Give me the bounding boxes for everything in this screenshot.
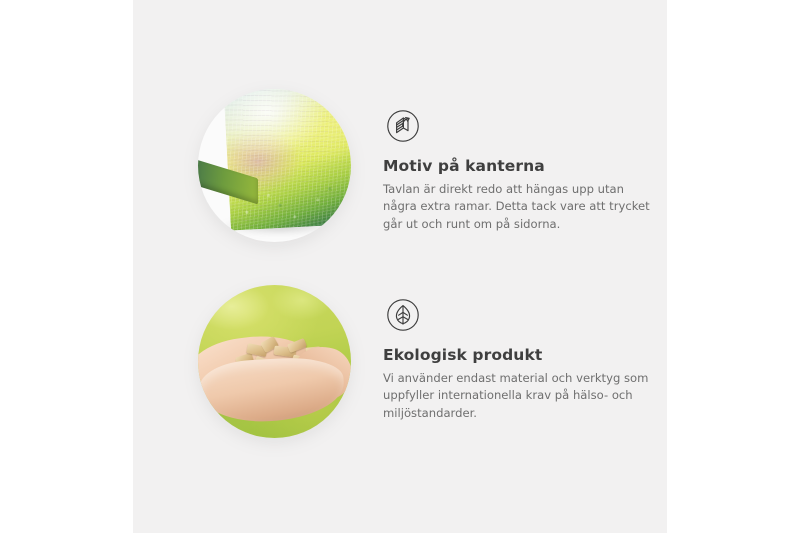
content-panel (133, 0, 667, 533)
hands-holding-wood-chips-photo (198, 285, 351, 438)
feature-title-1: Motiv på kanterna (383, 157, 653, 176)
feature-block-motiv-pa-kanterna: Motiv på kanterna Tavlan är direkt redo … (198, 89, 653, 242)
feature-text-1: Motiv på kanterna Tavlan är direkt redo … (383, 89, 653, 233)
feature-description-1: Tavlan är direkt redo att hängas upp uta… (383, 181, 653, 234)
promo-graphic: Motiv på kanterna Tavlan är direkt redo … (0, 0, 800, 533)
leaf-icon (383, 295, 423, 335)
feature-title-2: Ekologisk produkt (383, 346, 667, 365)
canvas-print-corner-photo (198, 89, 351, 242)
canvas-print-face (223, 89, 351, 231)
canvas-wrapped-edge-icon (383, 106, 423, 146)
feature-block-ekologisk-produkt: Ekologisk produkt Vi använder endast mat… (198, 285, 667, 438)
feature-description-2: Vi använder endast material och verktyg … (383, 370, 663, 423)
feature-text-2: Ekologisk produkt Vi använder endast mat… (383, 285, 667, 422)
